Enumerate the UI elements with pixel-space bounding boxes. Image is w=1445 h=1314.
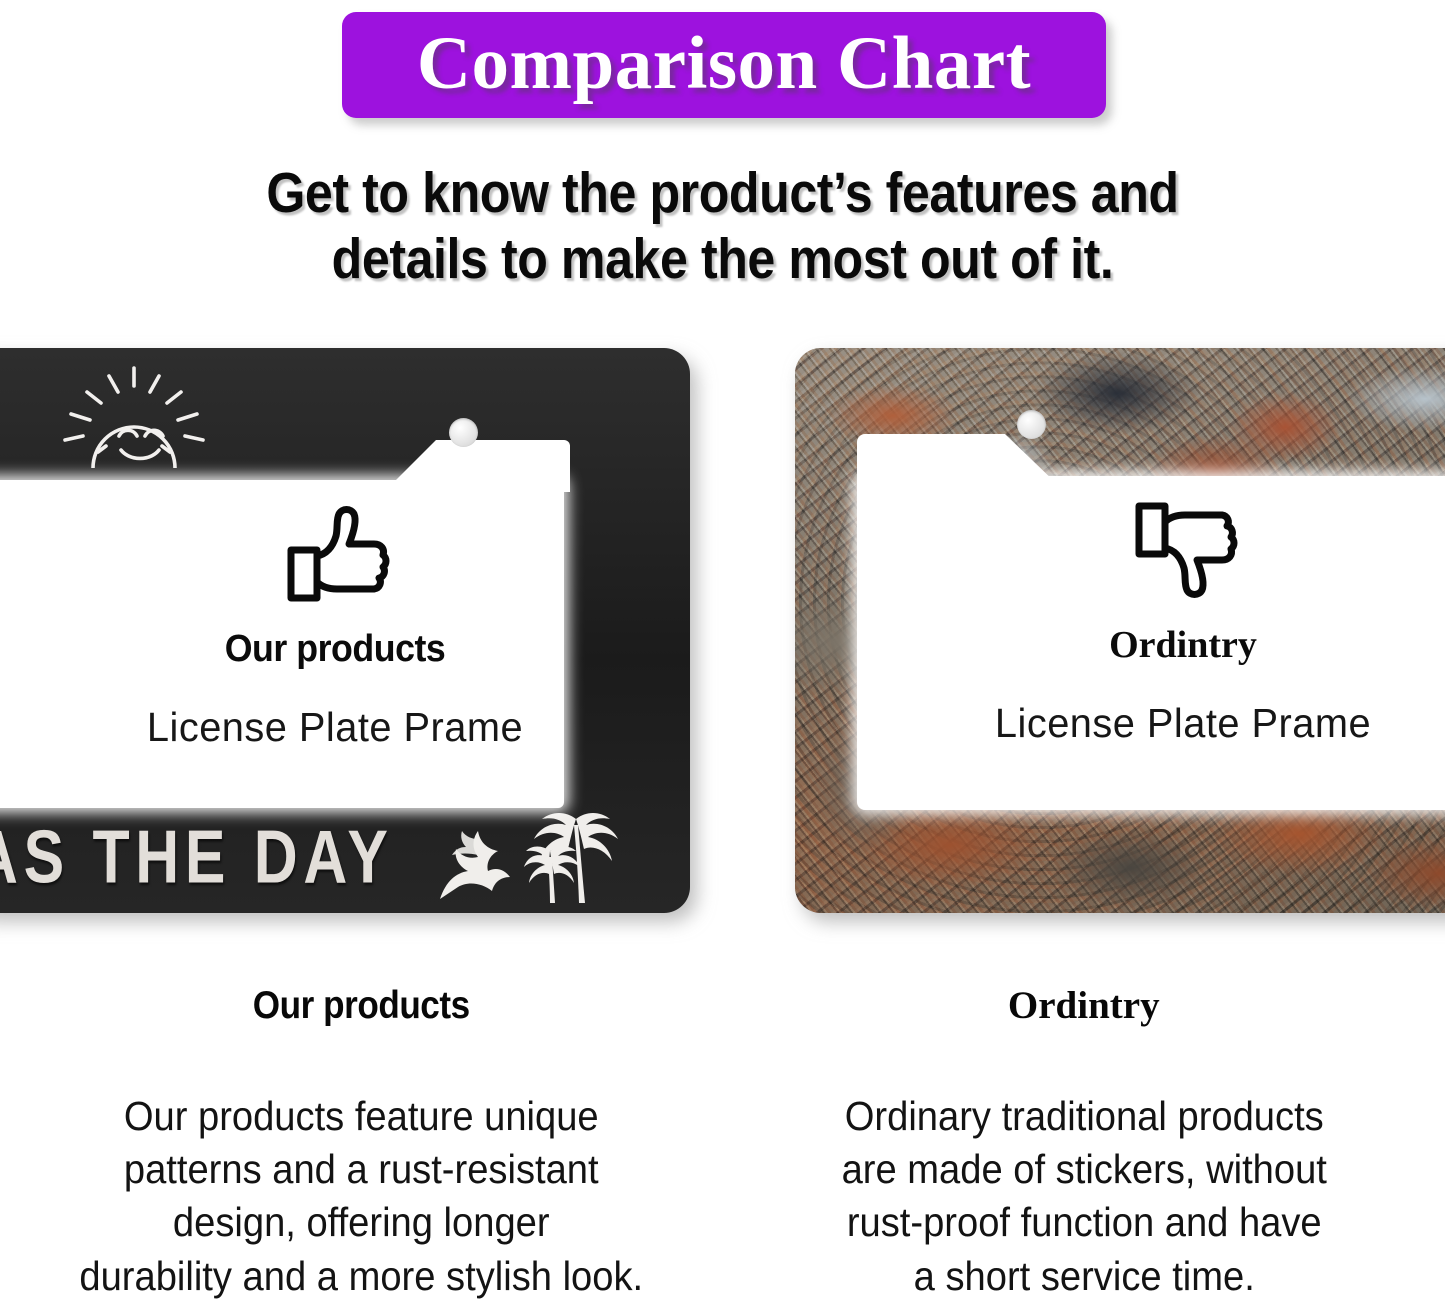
product-comparison-images: AS THE DAY [0, 330, 1445, 930]
ordinary-product-heading: Ordintry [745, 985, 1424, 1028]
description-line: Our products feature unique [46, 1090, 677, 1143]
description-line: design, offering longer [46, 1196, 677, 1249]
description-line: rust-proof function and have [768, 1196, 1399, 1249]
our-product-description: Our products feature unique patterns and… [46, 1090, 677, 1303]
mounting-hole-left [449, 418, 478, 447]
description-line: Ordinary traditional products [768, 1090, 1399, 1143]
description-line: patterns and a rust-resistant [46, 1143, 677, 1196]
description-line: are made of stickers, without [768, 1143, 1399, 1196]
our-product-window-content: Our products License Plate Prame [0, 498, 690, 750]
ordinary-product-description: Ordinary traditional products are made o… [768, 1090, 1399, 1303]
page-title: Comparison Chart [417, 26, 1031, 105]
palm-tree-icon [524, 801, 620, 910]
subtitle: Get to know the product’s features and d… [87, 160, 1359, 292]
ordinary-product-window-content: Ordintry License Plate Prame [833, 494, 1445, 746]
comparison-descriptions: Our products Our products feature unique… [0, 985, 1445, 1314]
our-product-description-column: Our products Our products feature unique… [0, 985, 723, 1314]
ordinary-product-label: License Plate Prame [844, 701, 1445, 746]
subtitle-line-2: details to make the most out of it. [87, 226, 1359, 292]
sun-icon [49, 356, 219, 468]
our-product-label: License Plate Prame [0, 705, 687, 750]
subtitle-line-1: Get to know the product’s features and [87, 160, 1359, 226]
our-product-license-plate-frame: AS THE DAY [0, 348, 690, 913]
wave-icon [432, 819, 518, 908]
thumbs-up-icon [0, 498, 690, 615]
ordinary-product-brand-name: Ordintry [833, 625, 1445, 667]
ordinary-product-description-column: Ordintry Ordinary traditional products a… [723, 985, 1445, 1314]
comparison-chart-banner: Comparison Chart [342, 12, 1106, 118]
description-line: durability and a more stylish look. [46, 1250, 677, 1303]
our-product-brand-name: Our products [0, 629, 676, 671]
description-line: a short service time. [768, 1250, 1399, 1303]
plate-slogan: AS THE DAY [0, 813, 394, 900]
ordinary-product-license-plate-frame: Ordintry License Plate Prame [795, 348, 1445, 913]
plate-notch-left [384, 440, 570, 492]
mounting-hole-right [1017, 410, 1046, 439]
thumbs-down-icon [833, 494, 1445, 611]
plate-bottom-strip: AS THE DAY [0, 795, 690, 913]
our-product-heading: Our products [56, 985, 667, 1028]
